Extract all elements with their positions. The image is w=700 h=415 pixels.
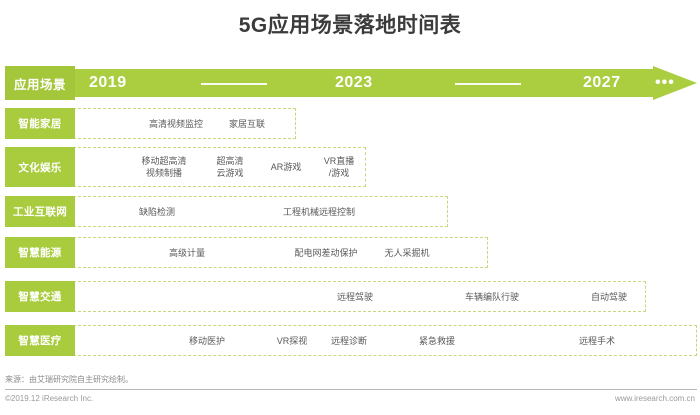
axis-label-applications: 应用场景	[5, 66, 75, 100]
timeline-cell: 移动医护	[179, 326, 235, 355]
timeline-row-label-text: 智慧能源	[18, 245, 61, 260]
timeline-row-bar: 高清视频监控家居互联	[68, 108, 296, 139]
timeline-infographic-page: { "title": "5G应用场景落地时间表", "colors": { "a…	[0, 0, 700, 415]
timeline-cell: VR直播 /游戏	[314, 148, 364, 186]
timeline-cell: 远程手术	[569, 326, 625, 355]
timeline-cell: 家居互联	[219, 109, 275, 138]
timeline-row: 高级计量配电网差动保护无人采掘机智慧能源	[5, 237, 488, 268]
timeline-row: 移动超高清 视频制播超高清 云游戏AR游戏VR直播 /游戏文化娱乐	[5, 147, 366, 187]
timeline-row: 高清视频监控家居互联智能家居	[5, 108, 296, 139]
timeline-cell: 远程驾驶	[327, 282, 383, 311]
timeline-row-bar: 高级计量配电网差动保护无人采掘机	[68, 237, 488, 268]
source-note: 来源：由艾瑞研究院自主研究绘制。	[5, 374, 133, 385]
timeline-row-label-text: 智能家居	[18, 116, 61, 131]
timeline-row-bar: 缺陷检测工程机械远程控制	[68, 196, 448, 227]
timeline-row-bar: 移动超高清 视频制播超高清 云游戏AR游戏VR直播 /游戏	[68, 147, 366, 187]
timeline-axis-header: 应用场景 2019 2023 2027 •••	[5, 66, 697, 100]
timeline-row-bar: 移动医护VR探视远程诊断紧急救援远程手术	[68, 325, 697, 356]
timeline-cell: 移动超高清 视频制播	[129, 148, 199, 186]
axis-label-text: 应用场景	[14, 74, 66, 93]
timeline-cell: 远程诊断	[321, 326, 377, 355]
timeline-cell: 车辆编队行驶	[454, 282, 530, 311]
timeline-cell: 配电网差动保护	[282, 238, 370, 267]
timeline-row-label-text: 工业互联网	[13, 204, 67, 219]
page-title: 5G应用场景落地时间表	[0, 12, 700, 40]
timeline-cell: 高级计量	[159, 238, 215, 267]
timeline-row-bar: 远程驾驶车辆编队行驶自动驾驶	[68, 281, 646, 312]
timeline-row: 移动医护VR探视远程诊断紧急救援远程手术智慧医疗	[5, 325, 697, 356]
timeline-cell: 缺陷检测	[129, 197, 185, 226]
timeline-cell: 工程机械远程控制	[269, 197, 369, 226]
timeline-cell: 自动驾驶	[581, 282, 637, 311]
website-note: www.iresearch.com.cn	[615, 394, 695, 403]
timeline-cell: VR探视	[267, 326, 317, 355]
footer-divider	[5, 389, 697, 390]
year-tick-2027: 2027	[583, 66, 621, 100]
timeline-row-label: 智慧交通	[5, 281, 75, 312]
year-tick-2023: 2023	[335, 66, 373, 100]
timeline-row: 远程驾驶车辆编队行驶自动驾驶智慧交通	[5, 281, 646, 312]
timeline-row-label: 智慧医疗	[5, 325, 75, 356]
timeline-row-label-text: 文化娱乐	[18, 160, 61, 175]
timeline-row-label-text: 智慧医疗	[18, 333, 61, 348]
timeline-cell: 超高清 云游戏	[202, 148, 258, 186]
timeline-row-label: 智慧能源	[5, 237, 75, 268]
timeline-cell: 无人采掘机	[374, 238, 440, 267]
timeline-row-label: 智能家居	[5, 108, 75, 139]
timeline-row: 缺陷检测工程机械远程控制工业互联网	[5, 196, 448, 227]
year-connector-dash-2	[455, 83, 521, 85]
timeline-row-label: 工业互联网	[5, 196, 75, 227]
year-connector-dash-1	[201, 83, 267, 85]
year-tick-2019: 2019	[89, 66, 127, 100]
copyright-note: ©2019.12 iResearch Inc.	[5, 394, 93, 403]
timeline-cell: AR游戏	[261, 148, 311, 186]
timeline-cell: 高清视频监控	[139, 109, 213, 138]
timeline-cell: 紧急救援	[409, 326, 465, 355]
ellipsis-icon: •••	[655, 66, 675, 100]
timeline-row-label-text: 智慧交通	[18, 289, 61, 304]
timeline-row-label: 文化娱乐	[5, 147, 75, 187]
